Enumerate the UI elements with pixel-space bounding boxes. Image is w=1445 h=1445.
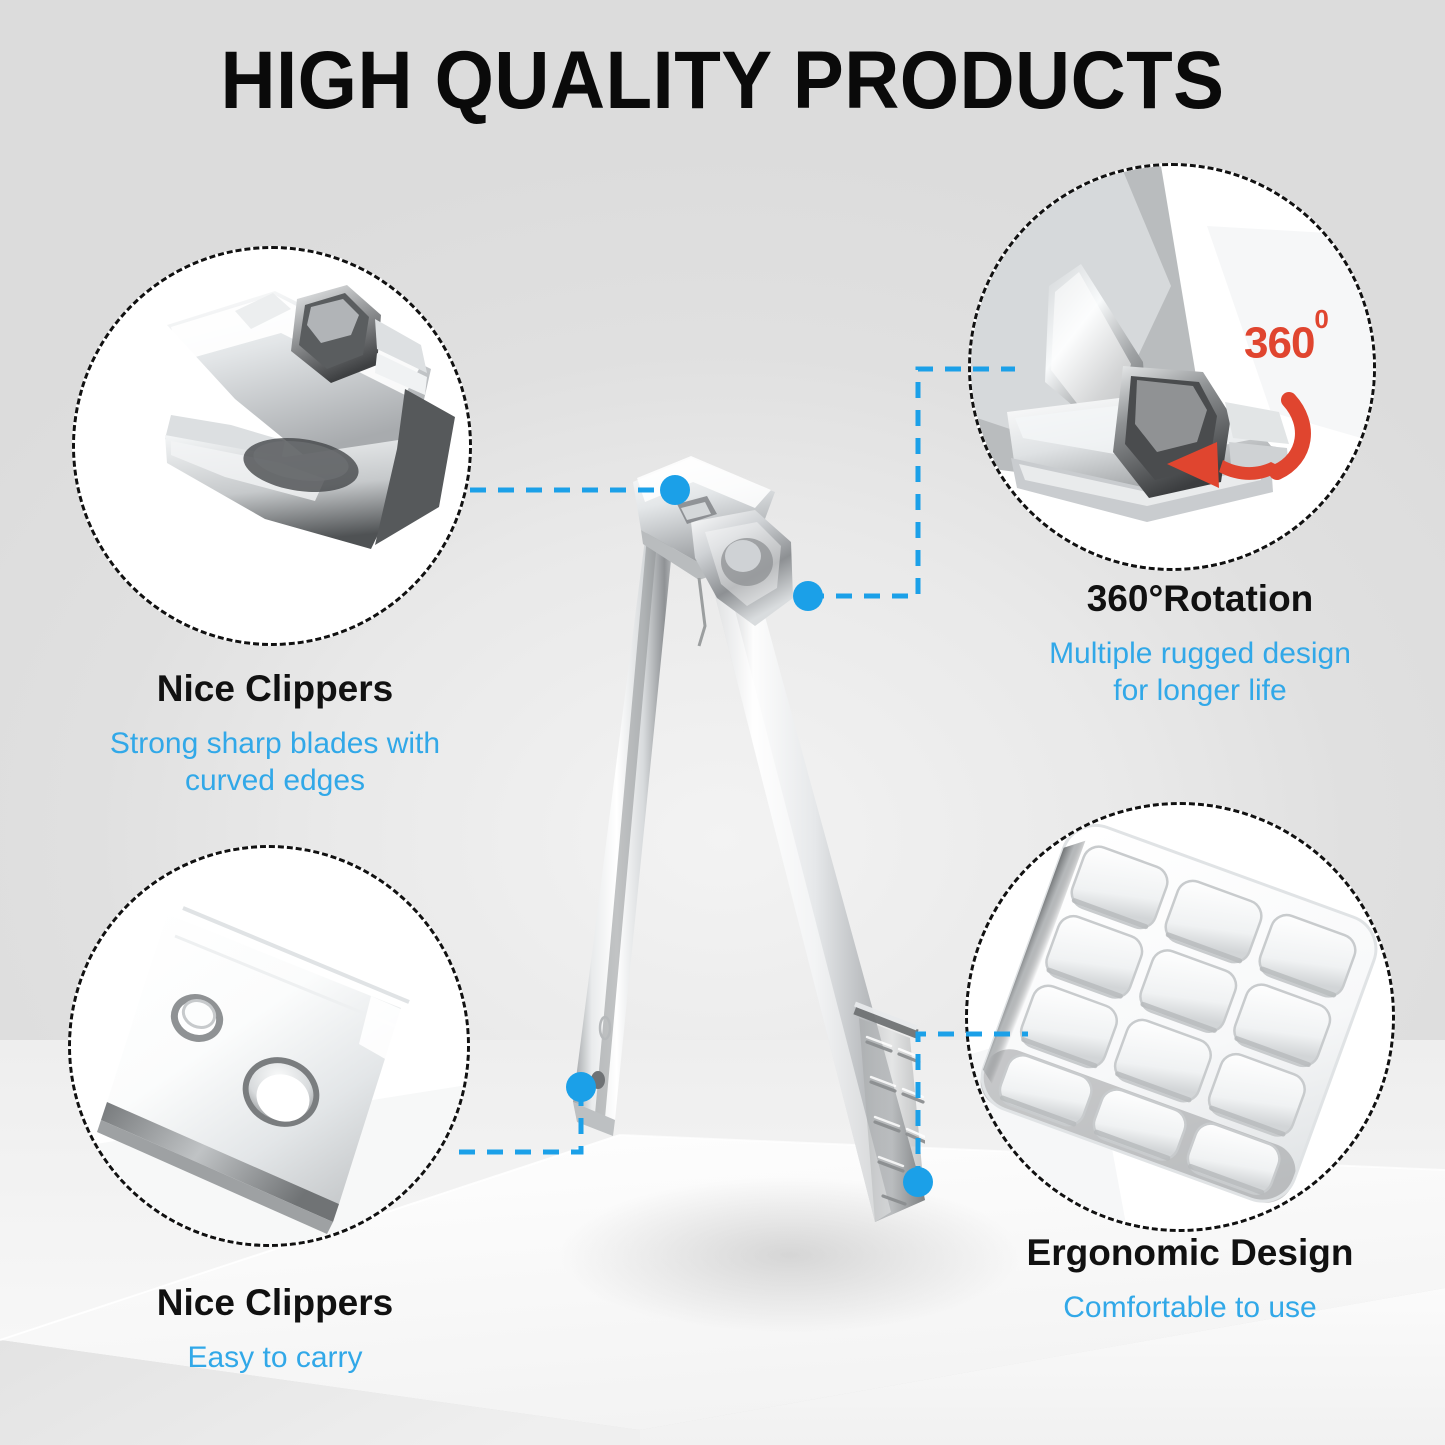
- text-block-nice-clippers-top: Nice Clippers Strong sharp blades with c…: [55, 668, 495, 800]
- subtext-line-1: Multiple rugged design: [1000, 635, 1400, 673]
- callout-circle-nice-clippers-bottom[interactable]: [68, 845, 470, 1247]
- subtext-nice-clippers-top: Strong sharp blades with curved edges: [55, 725, 495, 800]
- textured-grip-closeup-icon: [968, 805, 1392, 1229]
- subtext-line-1: Strong sharp blades with: [55, 725, 495, 763]
- marker-handle-dot[interactable]: [566, 1072, 596, 1102]
- infographic-canvas: HIGH QUALITY PRODUCTS: [0, 0, 1445, 1445]
- marker-grip-dot[interactable]: [903, 1167, 933, 1197]
- heading-nice-clippers-bottom: Nice Clippers: [55, 1282, 495, 1325]
- nail-clipper-product: [455, 430, 925, 1310]
- text-block-rotation: 360°Rotation Multiple rugged design for …: [1000, 578, 1400, 710]
- subtext-nice-clippers-bottom: Easy to carry: [55, 1339, 495, 1377]
- clipper-handle-holes-closeup-icon: [71, 848, 467, 1244]
- subtext-line-1: Comfortable to use: [970, 1289, 1410, 1327]
- callout-circle-ergonomic[interactable]: [965, 802, 1395, 1232]
- marker-blade-dot[interactable]: [660, 475, 690, 505]
- text-block-ergonomic: Ergonomic Design Comfortable to use: [970, 1232, 1410, 1326]
- callout-circle-nice-clippers-top[interactable]: [72, 246, 472, 646]
- rotation-badge-value: 360: [1244, 319, 1314, 368]
- subtext-rotation: Multiple rugged design for longer life: [1000, 635, 1400, 710]
- heading-ergonomic: Ergonomic Design: [970, 1232, 1410, 1275]
- page-title: HIGH QUALITY PRODUCTS: [51, 34, 1395, 128]
- rotation-badge: 3600: [1244, 318, 1328, 369]
- subtext-ergonomic: Comfortable to use: [970, 1289, 1410, 1327]
- rotation-badge-degree: 0: [1314, 304, 1327, 334]
- subtext-line-2: for longer life: [1000, 672, 1400, 710]
- marker-rotation-dot[interactable]: [793, 581, 823, 611]
- subtext-line-2: curved edges: [55, 762, 495, 800]
- heading-rotation: 360°Rotation: [1000, 578, 1400, 621]
- heading-nice-clippers-top: Nice Clippers: [55, 668, 495, 711]
- subtext-line-1: Easy to carry: [55, 1339, 495, 1377]
- clipper-jaw-closeup-icon: [75, 249, 469, 643]
- text-block-nice-clippers-bottom: Nice Clippers Easy to carry: [55, 1282, 495, 1376]
